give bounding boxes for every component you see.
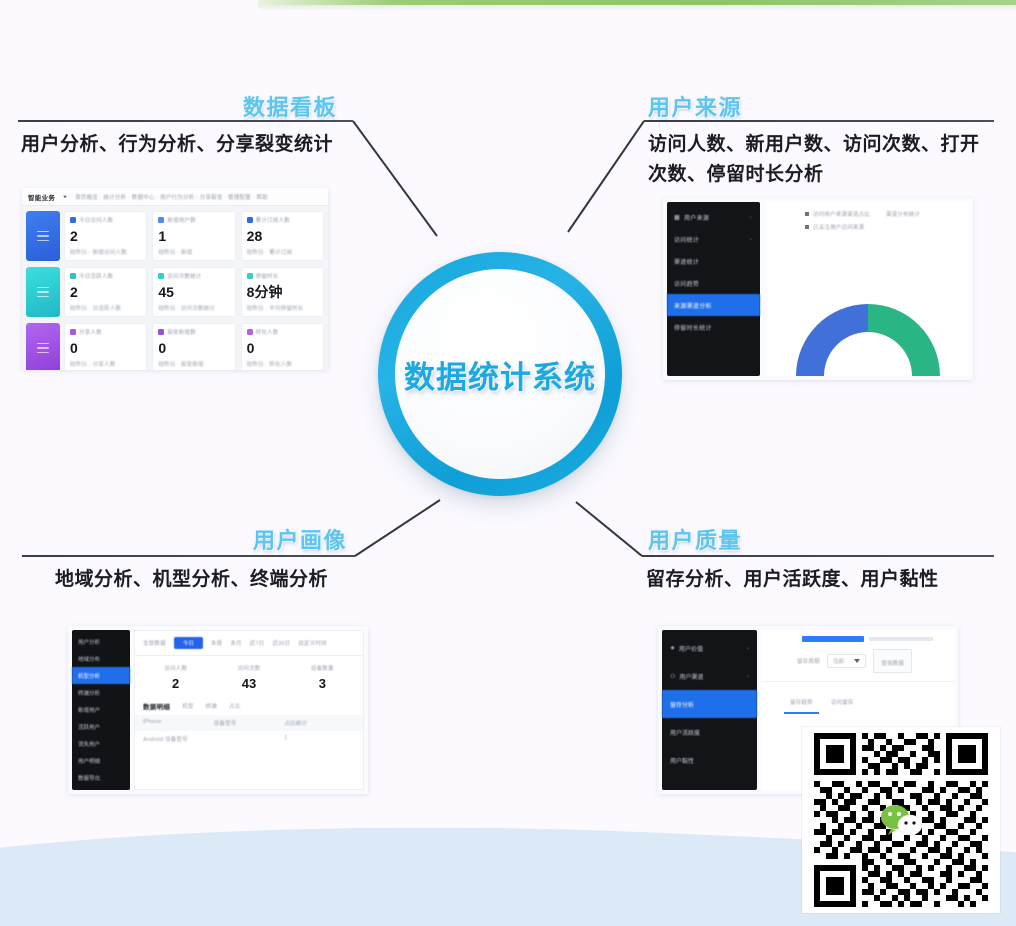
sidebar-item-label: 用户活跃度 <box>670 728 700 737</box>
metric-card[interactable]: 转化人数 0 较昨日 · 转化人数 <box>241 323 324 370</box>
tab-week[interactable]: 本周 <box>211 639 222 647</box>
quadrant-title-user-quality: 用户质量 <box>648 523 742 555</box>
quadrant-desc-dashboard: 用户分析、行为分析、分享裂变统计 <box>21 130 371 160</box>
sidebar-item-label: 用户来源 <box>684 213 709 222</box>
tab-custom[interactable]: 自定义时间 <box>298 639 327 647</box>
sidebar-item-label: 留存分析 <box>670 700 694 709</box>
metric-value: 0 <box>70 341 141 355</box>
grid-icon: ▦ <box>674 214 680 221</box>
metric-icon <box>247 217 253 223</box>
infographic-page: 数据看板 用户分析、行为分析、分享裂变统计 智能业务 首页概览 · 统计分析 ·… <box>0 0 1016 926</box>
legend-item[interactable]: 访问用户来源渠道占比 <box>805 210 870 218</box>
sidebar-item-user-channel[interactable]: ⚇ 用户渠道 ⌄ <box>662 662 757 690</box>
metric-label: 今日活跃人数 <box>79 272 113 280</box>
metric-value: 0 <box>247 341 318 355</box>
metric-value: 45 <box>158 285 229 299</box>
sidebar-item-label: 终端分析 <box>78 689 100 697</box>
legend-row: 访问用户来源渠道占比 渠道分布统计 <box>805 210 969 218</box>
sidebar-item-label: 访问趋势 <box>674 279 699 288</box>
metric-card[interactable]: 访问次数统计 45 较昨日 · 访问次数统计 <box>152 267 235 317</box>
metric-icon <box>70 273 76 279</box>
portrait-stats: 访问人数 2 访问次数 43 设备数量 3 <box>135 656 363 697</box>
tab-today-active[interactable]: 今日 <box>174 637 203 649</box>
metric-foot: 较昨日 · 访问次数统计 <box>158 304 229 312</box>
dashboard-cards: 今日访问人数 2 较昨日 · 新增访问人数 新增用户数 1 较昨日 · 新增 累… <box>64 211 324 370</box>
sidebar-item-label: 停留时长统计 <box>674 323 712 332</box>
sidebar-item-label: 流失用户 <box>78 740 100 748</box>
chevron-down-icon <box>63 195 67 197</box>
quadrant-rule-user-portrait <box>22 555 355 557</box>
chevron-down-icon <box>854 659 860 663</box>
portrait-main-panel: 全部数据 今日 本周 本月 近7日 近30日 自定义时间 访问人数 2 访问次数… <box>134 630 364 790</box>
table-filter[interactable]: 终端 <box>206 702 217 710</box>
half-donut-chart <box>778 276 958 376</box>
sidebar-item-label: 用户价值 <box>679 644 703 653</box>
sidebar-item-label: 活跃用户 <box>78 723 100 731</box>
stat-block: 访问人数 2 <box>139 664 212 691</box>
metric-value: 2 <box>70 229 141 243</box>
legend-label: 访问用户来源渠道占比 <box>813 210 870 218</box>
donut-segment-old <box>868 304 940 376</box>
user-source-screenshot[interactable]: ▦ 用户来源 ⌄ 访问统计 ⌄ 渠道统计 访问趋势 来源渠道分析 停留时长统计 <box>663 198 973 380</box>
sidebar-item-visit-trend[interactable]: 访问趋势 <box>667 272 760 294</box>
user-portrait-screenshot[interactable]: 用户分析 地域分布 机型分析 终端分析 新增用户 活跃用户 流失用户 用户明细 … <box>68 626 368 794</box>
cell: 1 <box>284 735 355 743</box>
legend-marker <box>805 212 809 216</box>
legend-marker <box>805 225 809 229</box>
metric-value: 0 <box>158 341 229 355</box>
stat-block: 访问次数 43 <box>212 664 285 691</box>
metric-label: 新增用户数 <box>167 216 196 224</box>
quality-tabs: 留存趋势 访问留存 <box>762 682 954 714</box>
filter-label: 留存周期 <box>797 657 820 665</box>
tab-retention-trend[interactable]: 留存趋势 <box>790 691 813 714</box>
stat-label: 设备数量 <box>311 664 334 672</box>
sidebar-item-device-model[interactable]: 机型分析 <box>72 667 130 684</box>
quadrant-desc-user-source: 访问人数、新用户数、访问次数、打开次数、停留时长分析 <box>648 130 988 190</box>
metric-value: 2 <box>70 285 141 299</box>
cell: Android 设备型号 <box>143 735 214 743</box>
sidebar-item-churn-users[interactable]: 流失用户 <box>72 735 130 752</box>
cell: 设备型号 <box>214 719 285 727</box>
stat-value: 3 <box>319 676 326 691</box>
metric-icon <box>70 217 76 223</box>
metric-card[interactable]: 累计订阅人数 28 较昨日 · 累计订阅 <box>241 211 324 261</box>
quality-sidebar: ✷ 用户价值 ⌄ ⚇ 用户渠道 ⌄ 留存分析 用户活跃度 用户黏性 <box>662 630 757 790</box>
quality-progress <box>762 630 954 642</box>
sidebar-item-new-users[interactable]: 新增用户 <box>72 701 130 718</box>
table-filter[interactable]: 机型 <box>182 702 193 710</box>
sidebar-item-user-analysis[interactable]: 用户分析 <box>72 633 130 650</box>
legend-label: 已关注用户访问来源 <box>813 223 864 231</box>
metric-foot: 较昨日 · 累计订阅 <box>247 248 318 256</box>
dashboard-nav[interactable]: 首页概览 · 统计分析 · 数据中心 · 用户行为分析 · 分享裂变 · 管理配… <box>75 193 268 201</box>
metric-label: 累计订阅人数 <box>256 216 290 224</box>
quadrant-rule-user-source <box>644 120 994 122</box>
dashboard-card-row: 今日访问人数 2 较昨日 · 新增访问人数 新增用户数 1 较昨日 · 新增 累… <box>64 211 324 261</box>
metric-label: 访问次数统计 <box>167 272 201 280</box>
cell: 占比统计 <box>284 719 355 727</box>
metric-label: 今日访问人数 <box>79 216 113 224</box>
dashboard-topbar: 智能业务 首页概览 · 统计分析 · 数据中心 · 用户行为分析 · 分享裂变 … <box>22 188 328 206</box>
sidebar-item-label: 地域分布 <box>78 655 100 663</box>
metric-value: 8分钟 <box>247 285 318 299</box>
legend-item[interactable]: 已关注用户访问来源 <box>805 223 864 231</box>
sidebar-item-label: 用户明细 <box>78 757 100 765</box>
dashboard-screenshot[interactable]: 智能业务 首页概览 · 统计分析 · 数据中心 · 用户行为分析 · 分享裂变 … <box>22 188 328 370</box>
tile-purple[interactable] <box>26 323 60 370</box>
query-button[interactable]: 查询数据 <box>873 649 912 673</box>
donut-segment-new <box>796 304 868 376</box>
sidebar-item-retention[interactable]: 留存分析 <box>662 690 757 718</box>
progress-bar-track <box>869 637 933 641</box>
portrait-sidebar: 用户分析 地域分布 机型分析 终端分析 新增用户 活跃用户 流失用户 用户明细 … <box>72 630 130 790</box>
sidebar-item-visit-stats[interactable]: 访问统计 ⌄ <box>667 228 760 250</box>
query-button-label: 查询数据 <box>881 661 904 667</box>
metric-label: 停留时长 <box>256 272 279 280</box>
wechat-qr-code[interactable] <box>802 727 1000 913</box>
metric-foot: 较昨日 · 日活跃人数 <box>70 304 141 312</box>
metric-icon <box>247 273 253 279</box>
sidebar-item-label: 新增用户 <box>78 706 100 714</box>
tab-30days[interactable]: 近30日 <box>272 639 290 647</box>
chevron-down-icon: ⌄ <box>746 673 750 679</box>
stat-block: 设备数量 3 <box>286 664 359 691</box>
table-title: 数据明细 <box>143 701 170 711</box>
sidebar-item-channel-analysis[interactable]: 来源渠道分析 <box>667 294 760 316</box>
table-row[interactable]: Android 设备型号 1 <box>135 731 363 747</box>
cell: iPhone <box>143 719 214 727</box>
chart-legend: 访问用户来源渠道占比 渠道分布统计 已关注用户访问来源 <box>767 202 969 231</box>
sidebar-item-channel-stats[interactable]: 渠道统计 <box>667 250 760 272</box>
source-main-panel: 访问用户来源渠道占比 渠道分布统计 已关注用户访问来源 <box>767 202 969 376</box>
metric-icon <box>158 217 164 223</box>
dashboard-card-row: 分享人数 0 较昨日 · 分享人数 裂变新增数 0 较昨日 · 裂变新增 转化人… <box>64 323 324 370</box>
sidebar-item-label: 用户分析 <box>78 638 100 646</box>
quality-filter-row: 留存周期 当前 查询数据 <box>762 642 954 682</box>
table-row[interactable]: iPhone 设备型号 占比统计 <box>135 715 363 731</box>
legend-label: 渠道分布统计 <box>886 210 920 218</box>
metric-card[interactable]: 今日活跃人数 2 较昨日 · 日活跃人数 <box>64 267 147 317</box>
quadrant-title-dashboard: 数据看板 <box>243 90 337 122</box>
sidebar-item-terminal[interactable]: 终端分析 <box>72 684 130 701</box>
person-icon: ⚇ <box>670 673 675 680</box>
tab-visit-retention[interactable]: 访问留存 <box>831 691 854 714</box>
metric-foot: 较昨日 · 分享人数 <box>70 360 141 368</box>
metric-card[interactable]: 分享人数 0 较昨日 · 分享人数 <box>64 323 147 370</box>
cell <box>214 735 285 743</box>
sidebar-item-label: 用户渠道 <box>679 672 703 681</box>
chevron-down-icon: ⌄ <box>749 214 754 220</box>
hub-inner: 数据统计系统 <box>395 269 605 479</box>
dashboard-tile-column <box>26 211 60 370</box>
metric-foot: 较昨日 · 转化人数 <box>247 360 318 368</box>
sidebar-item-duration-stats[interactable]: 停留时长统计 <box>667 316 760 338</box>
metric-icon <box>247 329 253 335</box>
source-sidebar: ▦ 用户来源 ⌄ 访问统计 ⌄ 渠道统计 访问趋势 来源渠道分析 停留时长统计 <box>667 202 760 376</box>
portrait-table-header: 数据明细 机型 终端 占比 <box>135 697 363 715</box>
metric-icon <box>158 329 164 335</box>
metric-card[interactable]: 停留时长 8分钟 较昨日 · 平均停留时长 <box>241 267 324 317</box>
portrait-tabbar: 全部数据 今日 本周 本月 近7日 近30日 自定义时间 <box>135 631 363 656</box>
chevron-down-icon: ⌄ <box>749 236 754 242</box>
quadrant-title-user-portrait: 用户画像 <box>253 523 347 555</box>
sidebar-item-user-value[interactable]: ✷ 用户价值 ⌄ <box>662 634 757 662</box>
metric-card[interactable]: 新增用户数 1 较昨日 · 新增 <box>152 211 235 261</box>
legend-row: 已关注用户访问来源 <box>805 223 969 231</box>
sidebar-item-user-source[interactable]: ▦ 用户来源 ⌄ <box>667 206 760 228</box>
tab-all[interactable]: 全部数据 <box>143 639 166 647</box>
metric-value: 28 <box>247 229 318 243</box>
quadrant-rule-dashboard <box>18 120 353 122</box>
sidebar-item-label: 来源渠道分析 <box>674 301 712 310</box>
tab-7days[interactable]: 近7日 <box>250 639 265 647</box>
quadrant-desc-user-quality: 留存分析、用户活跃度、用户黏性 <box>646 565 986 595</box>
tab-month[interactable]: 本月 <box>230 639 241 647</box>
sidebar-item-region[interactable]: 地域分布 <box>72 650 130 667</box>
metric-card[interactable]: 裂变新增数 0 较昨日 · 裂变新增 <box>152 323 235 370</box>
star-icon: ✷ <box>670 645 675 652</box>
metric-foot: 较昨日 · 新增访问人数 <box>70 248 141 256</box>
progress-bar-filled <box>802 636 864 642</box>
sidebar-item-label: 数据导出 <box>78 774 100 782</box>
quadrant-rule-user-quality <box>642 555 994 557</box>
tile-blue[interactable] <box>26 211 60 261</box>
sidebar-item-activity[interactable]: 用户活跃度 <box>662 718 757 746</box>
hub-label: 数据统计系统 <box>404 352 596 397</box>
sidebar-item-label: 访问统计 <box>674 235 699 244</box>
tab-label: 访问留存 <box>831 700 854 706</box>
sidebar-item-label: 渠道统计 <box>674 257 699 266</box>
metric-card[interactable]: 今日访问人数 2 较昨日 · 新增访问人数 <box>64 211 147 261</box>
metric-foot: 较昨日 · 新增 <box>158 248 229 256</box>
quadrant-title-user-source: 用户来源 <box>648 90 742 122</box>
metric-label: 分享人数 <box>79 328 102 336</box>
period-select[interactable]: 当前 <box>827 654 866 668</box>
quadrant-desc-user-portrait: 地域分析、机型分析、终端分析 <box>55 565 415 595</box>
metric-value: 1 <box>158 229 229 243</box>
stat-value: 2 <box>172 676 179 691</box>
sidebar-item-label: 机型分析 <box>78 672 100 680</box>
sidebar-item-active-users[interactable]: 活跃用户 <box>72 718 130 735</box>
tab-label: 留存趋势 <box>790 700 813 706</box>
sidebar-item-export[interactable]: 数据导出 <box>72 769 130 786</box>
period-select-value: 当前 <box>833 657 844 665</box>
tile-cyan[interactable] <box>26 267 60 317</box>
dashboard-brand: 智能业务 <box>28 192 55 202</box>
dashboard-body: 今日访问人数 2 较昨日 · 新增访问人数 新增用户数 1 较昨日 · 新增 累… <box>22 206 328 370</box>
dashboard-card-row: 今日活跃人数 2 较昨日 · 日活跃人数 访问次数统计 45 较昨日 · 访问次… <box>64 267 324 317</box>
sidebar-item-label: 用户黏性 <box>670 756 694 765</box>
stat-label: 访问人数 <box>164 664 187 672</box>
stat-value: 43 <box>242 676 256 691</box>
sidebar-item-stickiness[interactable]: 用户黏性 <box>662 746 757 774</box>
sidebar-item-user-detail[interactable]: 用户明细 <box>72 752 130 769</box>
wechat-logo <box>878 803 924 837</box>
metric-label: 转化人数 <box>256 328 279 336</box>
metric-icon <box>70 329 76 335</box>
metric-foot: 较昨日 · 裂变新增 <box>158 360 229 368</box>
metric-icon <box>158 273 164 279</box>
metric-foot: 较昨日 · 平均停留时长 <box>247 304 318 312</box>
chevron-down-icon: ⌄ <box>746 645 750 651</box>
legend-item[interactable]: 渠道分布统计 <box>886 210 920 218</box>
metric-label: 裂变新增数 <box>167 328 196 336</box>
stat-label: 访问次数 <box>238 664 261 672</box>
table-filter[interactable]: 占比 <box>229 702 240 710</box>
center-hub: 数据统计系统 <box>378 252 622 496</box>
